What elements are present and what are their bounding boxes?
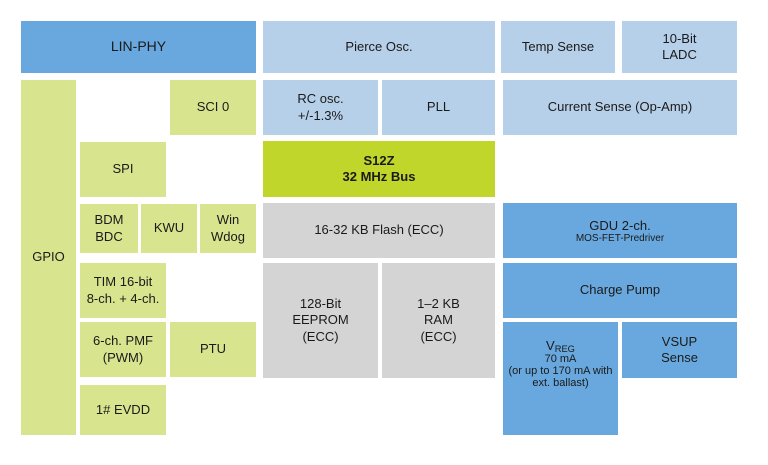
block-win-wdog-label: Win Wdog — [211, 212, 245, 245]
block-s12z-core[interactable]: S12Z 32 MHz Bus — [263, 141, 495, 197]
block-vreg-title: VREG — [546, 338, 575, 353]
block-vreg-note: (or up to 170 mA with ext. ballast) — [505, 365, 616, 389]
block-gdu[interactable]: GDU 2-ch. MOS-FET-Predriver — [503, 203, 737, 258]
block-pierce-osc-label: Pierce Osc. — [345, 39, 412, 55]
block-s12z-core-label: S12Z 32 MHz Bus — [343, 153, 416, 186]
block-gdu-title: GDU 2-ch. — [589, 218, 650, 233]
block-kwu-label: KWU — [154, 220, 184, 236]
block-vreg-name: V — [546, 338, 555, 353]
block-evdd-label: 1# EVDD — [96, 402, 150, 418]
block-tim[interactable]: TIM 16-bit 8-ch. + 4-ch. — [80, 263, 166, 318]
block-spi-label: SPI — [113, 161, 134, 177]
block-tim-label: TIM 16-bit 8-ch. + 4-ch. — [87, 274, 160, 307]
block-eeprom[interactable]: 128-Bit EEPROM (ECC) — [263, 263, 378, 378]
block-spi[interactable]: SPI — [80, 142, 166, 197]
block-pmf-pwm-label: 6-ch. PMF (PWM) — [93, 333, 153, 366]
block-win-wdog[interactable]: Win Wdog — [200, 204, 256, 253]
block-kwu[interactable]: KWU — [141, 204, 197, 253]
block-current-sense[interactable]: Current Sense (Op-Amp) — [503, 80, 737, 135]
block-gpio-label: GPIO — [32, 249, 65, 265]
block-charge-pump[interactable]: Charge Pump — [503, 263, 737, 318]
block-sci-0-label: SCI 0 — [197, 99, 230, 115]
block-sci-0[interactable]: SCI 0 — [170, 80, 256, 135]
block-flash[interactable]: 16-32 KB Flash (ECC) — [263, 203, 495, 258]
block-ram-label: 1–2 KB RAM (ECC) — [417, 296, 460, 345]
block-ptu[interactable]: PTU — [170, 322, 256, 377]
block-10bit-ladc[interactable]: 10-Bit LADC — [622, 21, 737, 73]
block-pll-label: PLL — [427, 99, 450, 115]
block-temp-sense[interactable]: Temp Sense — [501, 21, 615, 73]
block-pierce-osc[interactable]: Pierce Osc. — [263, 21, 495, 73]
block-ram[interactable]: 1–2 KB RAM (ECC) — [382, 263, 495, 378]
block-gpio[interactable]: GPIO — [21, 80, 76, 435]
block-vsup-sense[interactable]: VSUP Sense — [622, 322, 737, 378]
block-vsup-sense-label: VSUP Sense — [661, 334, 698, 367]
block-vreg-subscript: REG — [555, 344, 575, 354]
block-diagram: LIN-PHY Pierce Osc. Temp Sense 10-Bit LA… — [0, 0, 768, 465]
block-ptu-label: PTU — [200, 341, 226, 357]
block-bdm-bdc[interactable]: BDM BDC — [80, 204, 138, 253]
block-rc-osc[interactable]: RC osc. +/-1.3% — [263, 80, 378, 135]
block-charge-pump-label: Charge Pump — [580, 282, 660, 298]
block-evdd[interactable]: 1# EVDD — [80, 385, 166, 435]
block-pmf-pwm[interactable]: 6-ch. PMF (PWM) — [80, 322, 166, 377]
block-vreg[interactable]: VREG 70 mA (or up to 170 mA with ext. ba… — [503, 322, 618, 435]
block-eeprom-label: 128-Bit EEPROM (ECC) — [292, 296, 348, 345]
block-gdu-subtitle: MOS-FET-Predriver — [576, 233, 664, 244]
block-flash-label: 16-32 KB Flash (ECC) — [314, 222, 443, 238]
block-pll[interactable]: PLL — [382, 80, 495, 135]
block-10bit-ladc-label: 10-Bit LADC — [662, 31, 697, 64]
block-bdm-bdc-label: BDM BDC — [95, 212, 124, 245]
block-rc-osc-label: RC osc. +/-1.3% — [297, 91, 343, 124]
block-lin-phy-label: LIN-PHY — [111, 38, 166, 56]
block-vreg-current: 70 mA — [545, 353, 577, 365]
block-current-sense-label: Current Sense (Op-Amp) — [548, 99, 693, 115]
block-temp-sense-label: Temp Sense — [522, 39, 594, 55]
block-lin-phy[interactable]: LIN-PHY — [21, 21, 256, 73]
